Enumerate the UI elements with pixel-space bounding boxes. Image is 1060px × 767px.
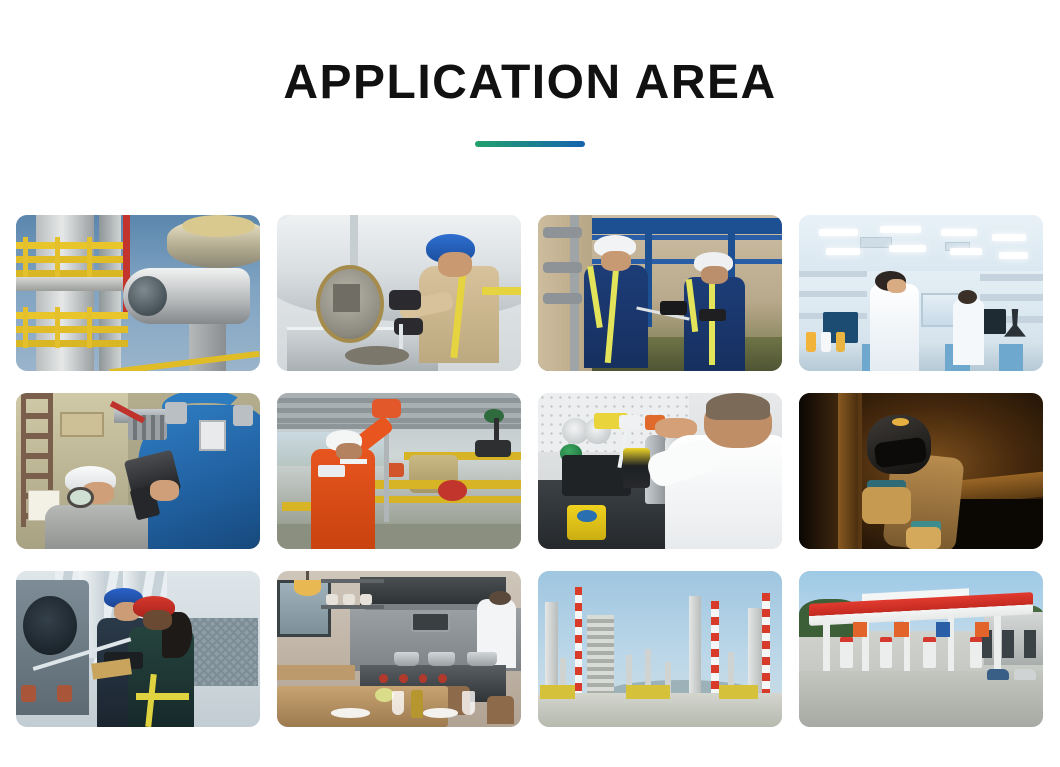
gallery-tile-petrochemical-plant-column[interactable] xyxy=(16,215,260,371)
photo-petrochemical-plant-column xyxy=(16,215,260,371)
gallery-tile-plant-vessel-atmosphere-testing[interactable] xyxy=(16,571,260,727)
application-area-section: APPLICATION AREA xyxy=(0,0,1060,767)
photo-gas-metering-skid-operation xyxy=(277,393,521,549)
photo-detector-calibration-bench xyxy=(538,393,782,549)
gallery-tile-confined-space-tank-inspection[interactable] xyxy=(277,215,521,371)
gallery-tile-confined-space-dark-entry[interactable] xyxy=(799,393,1043,549)
photo-pipeline-leak-detection xyxy=(16,393,260,549)
gallery-tile-pipeline-leak-detection[interactable] xyxy=(16,393,260,549)
photo-gas-facility-field-technicians xyxy=(538,215,782,371)
gallery-tile-oil-refinery-skyline[interactable] xyxy=(538,571,782,727)
photo-confined-space-dark-entry xyxy=(799,393,1043,549)
photo-laboratory-research xyxy=(799,215,1043,371)
gallery-tile-detector-calibration-bench[interactable] xyxy=(538,393,782,549)
section-heading: APPLICATION AREA xyxy=(0,0,1060,147)
title-divider xyxy=(475,141,585,147)
photo-oil-refinery-skyline xyxy=(538,571,782,727)
gallery-tile-gas-facility-field-technicians[interactable] xyxy=(538,215,782,371)
gallery-tile-fuel-filling-station[interactable] xyxy=(799,571,1043,727)
gallery-tile-laboratory-research[interactable] xyxy=(799,215,1043,371)
application-gallery xyxy=(16,215,1044,727)
photo-fuel-filling-station xyxy=(799,571,1043,727)
photo-commercial-kitchen xyxy=(277,571,521,727)
gallery-tile-commercial-kitchen[interactable] xyxy=(277,571,521,727)
photo-confined-space-tank-inspection xyxy=(277,215,521,371)
page-title: APPLICATION AREA xyxy=(0,58,1060,108)
photo-plant-vessel-atmosphere-testing xyxy=(16,571,260,727)
gallery-tile-gas-metering-skid-operation[interactable] xyxy=(277,393,521,549)
